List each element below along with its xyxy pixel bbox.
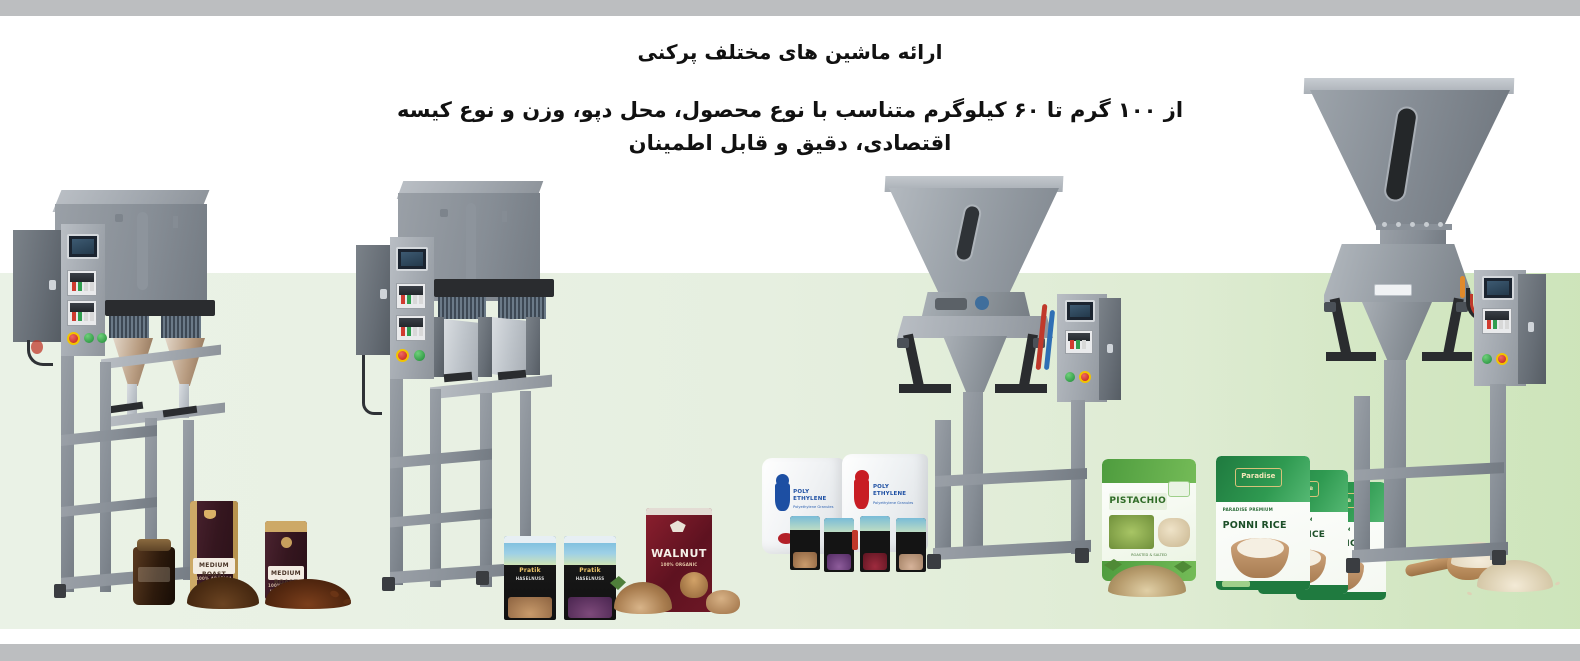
m1-caster-left (54, 584, 66, 598)
nut-bag-1-label: HASELNUSS (507, 576, 553, 583)
m3-clamp-pad-right[interactable] (995, 384, 1047, 393)
m4-flange-bolt-2 (1396, 222, 1401, 227)
m1-sight-glass (137, 212, 148, 290)
m1-start-button-1[interactable] (84, 333, 94, 343)
headings-block: ارائه ماشین های مختلف پرکنی از ۱۰۰ گرم ت… (0, 38, 1580, 160)
m3-controller-1[interactable] (1065, 330, 1093, 354)
m2-leg-back-left (430, 389, 441, 587)
m2-crossbeam (434, 279, 554, 297)
m1-hopper-fitting (173, 216, 178, 228)
polyethylene-sack-1-label: POLY ETHYLENE (793, 489, 839, 503)
m2-brush-left (438, 297, 486, 319)
nut-bag-1-brand: Pratik (507, 566, 553, 574)
m2-hmi-screen[interactable] (396, 247, 428, 271)
m4-stand-base (1352, 542, 1508, 563)
m4-emergency-stop-button[interactable] (1496, 353, 1508, 365)
m2-cabinet-handle[interactable] (380, 289, 387, 299)
m1-brush-left (109, 316, 149, 338)
nut-bag-2: Pratik HASELNUSS (564, 536, 616, 620)
m4-caster-right (1492, 550, 1506, 565)
m4-tube-orange (1460, 276, 1465, 298)
m1-controller-1[interactable] (67, 270, 97, 296)
walnut-bag-sub: 100% ORGANIC (650, 562, 708, 570)
m2-cabinet-side (356, 245, 390, 355)
snack-pouch-3 (860, 516, 890, 572)
rice-bag-1-label: PONNI RICE (1223, 520, 1304, 531)
top-edge-bar (0, 0, 1580, 16)
m2-controller-1[interactable] (396, 283, 426, 309)
m3-cabinet-handle[interactable] (1107, 344, 1113, 353)
slide-canvas: ارائه ماشین های مختلف پرکنی از ۱۰۰ گرم ت… (0, 0, 1580, 661)
m1-bag-clamp-left[interactable] (109, 402, 144, 414)
m4-cabinet-handle[interactable] (1528, 322, 1534, 332)
m1-cabinet-handle[interactable] (49, 280, 56, 290)
coffee-jar-lid (137, 539, 171, 551)
rice-bag-1-brand: Paradise (1235, 468, 1282, 487)
m3-clamp-pad-left[interactable] (899, 384, 951, 393)
m4-clamp-pivot-left (1324, 302, 1336, 312)
m2-hopper-fitting (502, 211, 507, 222)
subtitle-line-2: اقتصادی، دقیق و قابل اطمینان (0, 127, 1580, 160)
coffee-jar (133, 547, 175, 605)
m2-leg-front-right (480, 393, 492, 587)
m2-power-cable (362, 355, 382, 415)
snack-pouch-1 (790, 516, 820, 570)
m2-brush-right (498, 297, 546, 319)
product-group-nuts: Pratik HASELNUSS Pratik HASELNUSS WALNUT… (498, 500, 748, 625)
m2-controller-2[interactable] (396, 315, 426, 341)
m1-brush-right (161, 316, 201, 338)
m3-start-button[interactable] (1065, 372, 1075, 382)
m4-machine-nameplate (1374, 284, 1412, 296)
product-group-sacks: POLY ETHYLENE Polyethylene Granules POLY… (752, 452, 962, 582)
coffee-bag-2-label: MEDIUM ROAST (268, 566, 305, 580)
m4-caster-left (1346, 558, 1360, 573)
polyethylene-sack-1-sub: Polyethylene Granules (793, 505, 839, 510)
polyethylene-sack-2-label: POLY ETHYLENE (873, 484, 924, 498)
m4-flange-bolt-5 (1438, 222, 1443, 227)
m4-start-button[interactable] (1482, 354, 1492, 364)
m1-emergency-stop-button[interactable] (67, 332, 80, 345)
snack-pouch-2 (824, 518, 854, 572)
m2-caster-left (382, 577, 395, 591)
product-group-pistachio: PISTACHIO ROASTED & SALTED (1098, 455, 1208, 605)
m2-emergency-stop-button[interactable] (396, 349, 409, 362)
m3-head-valve (975, 296, 989, 310)
coffee-bag-1-label: MEDIUM ROAST (193, 558, 235, 574)
m4-hmi-screen[interactable] (1482, 276, 1514, 300)
snack-pouch-4 (896, 518, 926, 572)
m4-flange-bolt-4 (1424, 222, 1429, 227)
m4-flange-bolt-1 (1382, 222, 1387, 227)
m2-caster-right (476, 571, 489, 585)
m1-crossbeam (105, 300, 215, 316)
m1-funnel-right (165, 338, 205, 386)
m1-caster-marker (31, 340, 43, 354)
m3-emergency-stop-button[interactable] (1079, 371, 1091, 383)
m4-clamp-pad-right[interactable] (1422, 352, 1472, 361)
m2-hopper-bolt (440, 209, 448, 217)
walnut-stray (706, 590, 740, 614)
m4-clamp-pad-left[interactable] (1326, 352, 1376, 361)
m2-bag-clamp-left[interactable] (444, 372, 473, 382)
pistachio-bag-label: PISTACHIO (1109, 493, 1167, 510)
m3-caster-right (1075, 548, 1089, 563)
nut-bag-2-brand: Pratik (567, 566, 613, 574)
m2-stand-brace-upper (390, 449, 492, 469)
m1-start-button-2[interactable] (97, 333, 107, 343)
m3-head-actuator (935, 298, 967, 310)
m1-hmi-screen[interactable] (67, 234, 99, 259)
walnut-bag-label: WALNUT (650, 545, 708, 561)
m2-sight-glass (466, 203, 476, 289)
m2-stand-brace-mid (390, 509, 492, 528)
page-title: ارائه ماشین های مختلف پرکنی (0, 38, 1580, 66)
m2-chute-wall-mid (478, 317, 492, 377)
m1-leg-front-left (61, 356, 74, 592)
product-group-coffee: MEDIUM ROAST 100% ARABICA ROASTED GROUND… (125, 495, 375, 625)
polyethylene-sack-2-sub: Polyethylene Granules (873, 501, 924, 506)
m4-flange-bolt-3 (1410, 222, 1415, 227)
m2-chute-wall-right (526, 317, 540, 375)
m4-stand-brace (1354, 462, 1504, 481)
m4-controller-1[interactable] (1482, 308, 1512, 334)
m2-leg-front-left (390, 379, 403, 585)
m4-leg-center (1384, 360, 1406, 560)
rice-bag-1: Paradise PARADISE PREMIUM PONNI RICE (1216, 456, 1310, 590)
nut-bag-2-label: HASELNUSS (567, 576, 613, 583)
pouch-divider-accent (852, 530, 858, 550)
m1-controller-2[interactable] (67, 300, 97, 326)
m3-hmi-screen[interactable] (1065, 300, 1095, 322)
m1-hopper-bolt (115, 214, 123, 222)
bottom-edge-bar (0, 644, 1580, 661)
nut-bag-1: Pratik HASELNUSS (504, 536, 556, 620)
m3-clamp-pivot-left (897, 338, 909, 348)
m2-start-button[interactable] (414, 350, 425, 361)
subtitle-line-1: از ۱۰۰ گرم تا ۶۰ کیلوگرم متناسب با نوع م… (0, 94, 1580, 127)
pistachio-bag-sub: ROASTED & SALTED (1109, 553, 1190, 558)
m1-leg-back-left (100, 362, 111, 592)
rice-bag-1-sub: PARADISE PREMIUM (1223, 507, 1304, 512)
